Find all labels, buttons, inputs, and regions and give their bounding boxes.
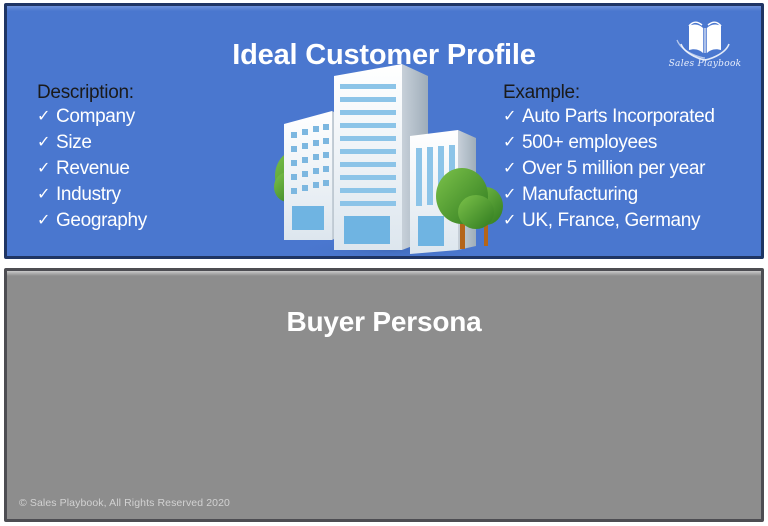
check-icon: ✓ <box>503 132 522 153</box>
sales-playbook-logo: Sales Playbook <box>661 18 749 80</box>
list-item: ✓Auto Parts Incorporated <box>503 106 715 127</box>
list-item: ✓UK, France, Germany <box>503 210 715 231</box>
list-item: ✓Manufacturing <box>503 184 715 205</box>
ideal-customer-profile-panel: Ideal Customer Profile Sales Playbook <box>4 3 764 259</box>
check-icon: ✓ <box>37 106 56 127</box>
icp-description-list: ✓Company ✓Size ✓Revenue ✓Industry ✓Geogr… <box>37 106 147 231</box>
list-item: ✓Over 5 million per year <box>503 158 715 179</box>
open-book-icon <box>675 18 735 62</box>
list-item: ✓Industry <box>37 184 147 205</box>
office-buildings-icon <box>262 54 506 259</box>
list-item: ✓500+ employees <box>503 132 715 153</box>
list-item: ✓Revenue <box>37 158 147 179</box>
slide-canvas: Ideal Customer Profile Sales Playbook <box>0 0 768 526</box>
list-item: ✓Size <box>37 132 147 153</box>
buyer-persona-panel: Buyer Persona <box>4 268 764 522</box>
icp-description-column: Description: ✓Company ✓Size ✓Revenue ✓In… <box>37 83 147 236</box>
building-left <box>284 111 340 240</box>
icp-example-column: Example: ✓Auto Parts Incorporated ✓500+ … <box>503 83 715 236</box>
icp-description-heading: Description: <box>37 83 147 102</box>
check-icon: ✓ <box>37 132 56 153</box>
office-buildings-illustration <box>262 54 506 259</box>
check-icon: ✓ <box>503 210 522 231</box>
check-icon: ✓ <box>503 184 522 205</box>
check-icon: ✓ <box>37 184 56 205</box>
list-item: ✓Company <box>37 106 147 127</box>
check-icon: ✓ <box>37 210 56 231</box>
list-item: ✓Geography <box>37 210 147 231</box>
check-icon: ✓ <box>37 158 56 179</box>
buyer-persona-panel-title: Buyer Persona <box>7 306 761 338</box>
logo-wordmark: Sales Playbook <box>661 59 749 69</box>
icp-example-heading: Example: <box>503 83 715 102</box>
icp-example-list: ✓Auto Parts Incorporated ✓500+ employees… <box>503 106 715 231</box>
copyright-notice: © Sales Playbook, All Rights Reserved 20… <box>19 497 230 509</box>
check-icon: ✓ <box>503 158 522 179</box>
check-icon: ✓ <box>503 106 522 127</box>
